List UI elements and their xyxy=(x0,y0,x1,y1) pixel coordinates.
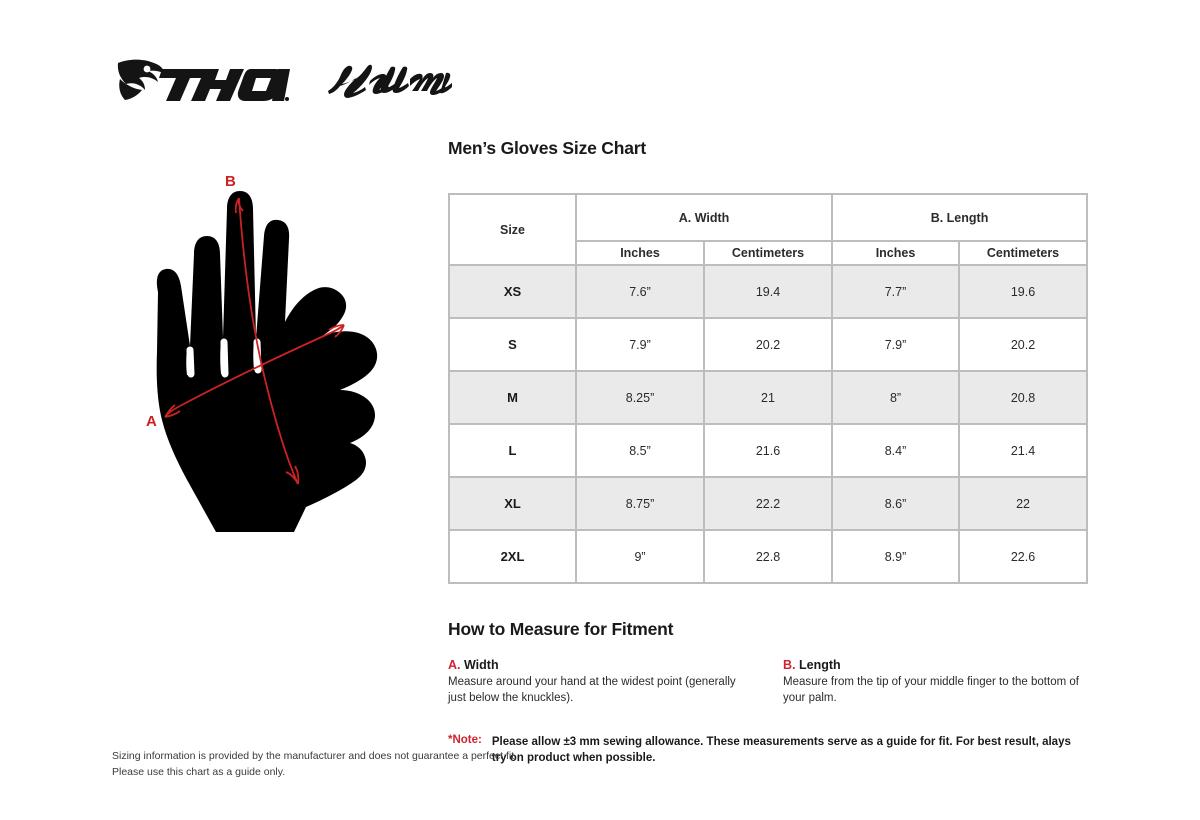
cell-length-inches: 8.4” xyxy=(832,424,959,477)
table-row: XS7.6”19.47.7”19.6 xyxy=(449,265,1087,318)
marker-b-label: B xyxy=(225,173,236,190)
cell-width-centimeters: 22.2 xyxy=(704,477,832,530)
marker-a-label: A xyxy=(146,413,157,430)
thor-logo xyxy=(112,55,290,107)
measure-item-length-heading: B. Length xyxy=(783,658,1086,672)
cell-length-inches: 7.7” xyxy=(832,265,959,318)
cell-width-centimeters: 19.4 xyxy=(704,265,832,318)
col-header-size: Size xyxy=(449,194,576,265)
col-header-width-centimeters: Centimeters xyxy=(704,241,832,265)
size-chart-body: XS7.6”19.47.7”19.6S7.9”20.27.9”20.2M8.25… xyxy=(449,265,1087,583)
table-row: 2XL9”22.88.9”22.6 xyxy=(449,530,1087,583)
cell-length-inches: 8.9” xyxy=(832,530,959,583)
table-group-header-row: Size A. Width B. Length xyxy=(449,194,1087,241)
hand-measurement-diagram: B A xyxy=(128,162,428,542)
cell-width-centimeters: 21 xyxy=(704,371,832,424)
cell-width-inches: 8.25” xyxy=(576,371,704,424)
measure-item-width: A. Width Measure around your hand at the… xyxy=(448,658,751,706)
table-row: L8.5”21.68.4”21.4 xyxy=(449,424,1087,477)
size-chart-table: Size A. Width B. Length Inches Centimete… xyxy=(448,193,1088,584)
measure-item-length-label: Length xyxy=(799,658,841,672)
cell-length-centimeters: 22 xyxy=(959,477,1087,530)
cell-size: XS xyxy=(449,265,576,318)
measure-item-width-label: Width xyxy=(464,658,499,672)
cell-width-inches: 7.9” xyxy=(576,318,704,371)
cell-width-inches: 8.75” xyxy=(576,477,704,530)
disclaimer-line-2: Please use this chart as a guide only. xyxy=(112,764,632,780)
page-title: Men’s Gloves Size Chart xyxy=(448,138,1088,159)
cell-width-inches: 7.6” xyxy=(576,265,704,318)
cell-width-centimeters: 22.8 xyxy=(704,530,832,583)
disclaimer-line-1: Sizing information is provided by the ma… xyxy=(112,748,632,764)
measure-item-width-letter: A. xyxy=(448,658,461,672)
cell-size: XL xyxy=(449,477,576,530)
measure-item-width-text: Measure around your hand at the widest p… xyxy=(448,675,751,706)
cell-length-centimeters: 20.8 xyxy=(959,371,1087,424)
cell-size: S xyxy=(449,318,576,371)
cell-length-centimeters: 20.2 xyxy=(959,318,1087,371)
measure-item-length: B. Length Measure from the tip of your m… xyxy=(783,658,1086,706)
how-to-measure-section: How to Measure for Fitment A. Width Meas… xyxy=(448,619,1088,706)
measure-item-length-text: Measure from the tip of your middle fing… xyxy=(783,675,1086,706)
cell-size: M xyxy=(449,371,576,424)
cell-length-centimeters: 22.6 xyxy=(959,530,1087,583)
cell-width-inches: 8.5” xyxy=(576,424,704,477)
col-header-length-centimeters: Centimeters xyxy=(959,241,1087,265)
cell-width-centimeters: 20.2 xyxy=(704,318,832,371)
cell-length-centimeters: 21.4 xyxy=(959,424,1087,477)
hallman-logo xyxy=(324,57,452,105)
disclaimer-footer: Sizing information is provided by the ma… xyxy=(112,748,632,781)
measure-item-width-heading: A. Width xyxy=(448,658,751,672)
how-to-measure-columns: A. Width Measure around your hand at the… xyxy=(448,658,1088,706)
table-row: XL8.75”22.28.6”22 xyxy=(449,477,1087,530)
how-to-measure-title: How to Measure for Fitment xyxy=(448,619,1088,640)
col-header-length-inches: Inches xyxy=(832,241,959,265)
cell-width-inches: 9” xyxy=(576,530,704,583)
brand-logo-bar xyxy=(112,52,512,110)
cell-length-inches: 8.6” xyxy=(832,477,959,530)
content-column: Men’s Gloves Size Chart Size A. Width B.… xyxy=(448,138,1088,766)
table-row: M8.25”218”20.8 xyxy=(449,371,1087,424)
col-group-header-length: B. Length xyxy=(832,194,1087,241)
col-header-width-inches: Inches xyxy=(576,241,704,265)
cell-size: 2XL xyxy=(449,530,576,583)
measure-item-length-letter: B. xyxy=(783,658,796,672)
col-group-header-width: A. Width xyxy=(576,194,832,241)
table-row: S7.9”20.27.9”20.2 xyxy=(449,318,1087,371)
cell-length-inches: 7.9” xyxy=(832,318,959,371)
cell-size: L xyxy=(449,424,576,477)
cell-width-centimeters: 21.6 xyxy=(704,424,832,477)
cell-length-centimeters: 19.6 xyxy=(959,265,1087,318)
cell-length-inches: 8” xyxy=(832,371,959,424)
